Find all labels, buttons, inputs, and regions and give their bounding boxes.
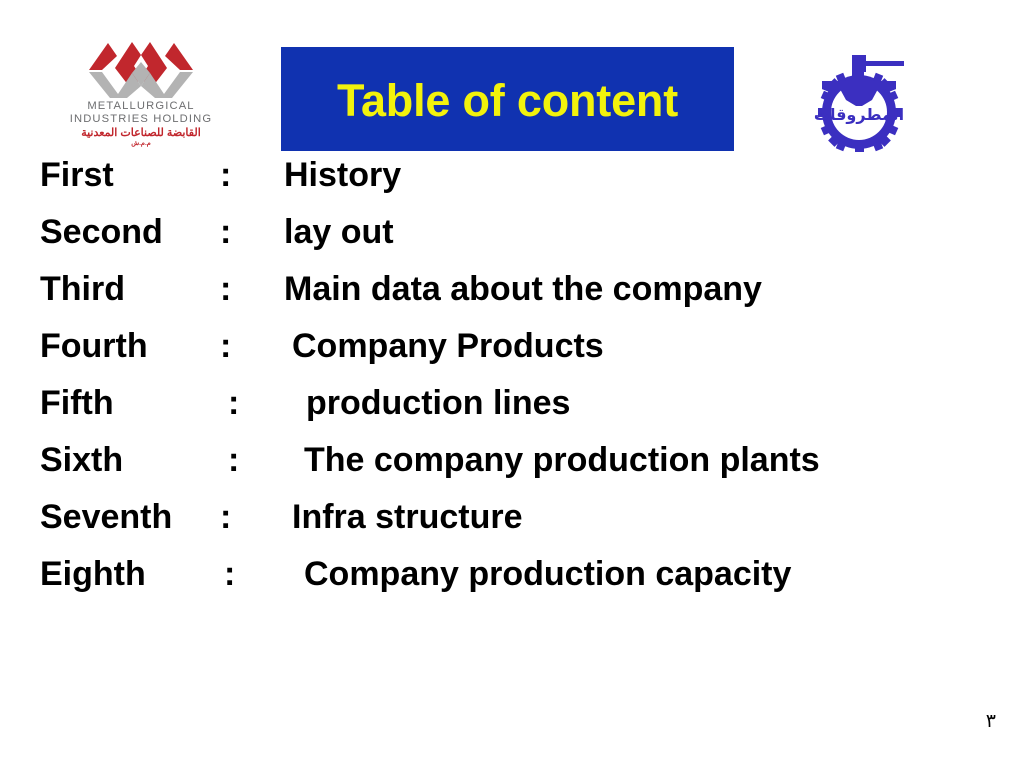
list-item[interactable]: Third : Main data about the company — [40, 270, 984, 327]
mih-wordmark-line1: METALLURGICAL — [66, 100, 216, 113]
list-item[interactable]: Second : lay out — [40, 213, 984, 270]
toc-colon: : — [220, 384, 250, 423]
toc-colon: : — [220, 555, 246, 594]
toc-value: Infra structure — [242, 498, 523, 537]
table-of-contents-list: First : History Second : lay out Third :… — [40, 156, 984, 612]
toc-ordinal: Third — [40, 270, 220, 309]
list-item[interactable]: Fourth : Company Products — [40, 327, 984, 384]
toc-value: Main data about the company — [242, 270, 762, 309]
list-item[interactable]: Seventh : Infra structure — [40, 498, 984, 555]
mih-wordmark-line2: INDUSTRIES HOLDING — [66, 113, 216, 126]
mih-wordmark-arabic: القابضة للصناعات المعدنية — [66, 127, 216, 139]
toc-ordinal: Fifth — [40, 384, 220, 423]
toc-value: lay out — [242, 213, 394, 252]
toc-ordinal: Eighth — [40, 555, 220, 594]
toc-ordinal: Seventh — [40, 498, 220, 537]
list-item[interactable]: Fifth : production lines — [40, 384, 984, 441]
list-item[interactable]: Sixth : The company production plants — [40, 441, 984, 498]
toc-value: Company Products — [242, 327, 604, 366]
toc-ordinal: First — [40, 156, 220, 195]
page-title: Table of content — [337, 78, 678, 123]
toc-ordinal: Second — [40, 213, 220, 252]
toc-value: History — [242, 156, 401, 195]
mih-wordmark: METALLURGICAL INDUSTRIES HOLDING القابضة… — [66, 100, 216, 148]
toc-colon: : — [220, 213, 242, 252]
mih-chevron-mark-icon — [88, 36, 194, 98]
matrouqat-forging-logo: المطروقات — [808, 52, 910, 152]
toc-value: production lines — [250, 384, 570, 423]
forge-logo-arabic-text: المطروقات — [814, 105, 904, 124]
list-item[interactable]: Eighth : Company production capacity — [40, 555, 984, 612]
metallurgical-industries-holding-logo: METALLURGICAL INDUSTRIES HOLDING القابضة… — [66, 36, 216, 152]
toc-ordinal: Sixth — [40, 441, 220, 480]
toc-colon: : — [220, 156, 242, 195]
toc-colon: : — [220, 498, 242, 537]
toc-ordinal: Fourth — [40, 327, 220, 366]
list-item[interactable]: First : History — [40, 156, 984, 213]
mih-wordmark-arabic-sub: م.م.ش — [66, 140, 216, 147]
toc-colon: : — [220, 441, 250, 480]
anvil-hammer-gear-icon: المطروقات — [808, 52, 910, 152]
toc-colon: : — [220, 327, 242, 366]
page-number: ٣ — [986, 710, 996, 732]
toc-colon: : — [220, 270, 242, 309]
toc-value: Company production capacity — [246, 555, 791, 594]
toc-value: The company production plants — [250, 441, 820, 480]
slide-title-banner: Table of content — [281, 47, 734, 151]
slide-canvas: METALLURGICAL INDUSTRIES HOLDING القابضة… — [0, 0, 1024, 768]
